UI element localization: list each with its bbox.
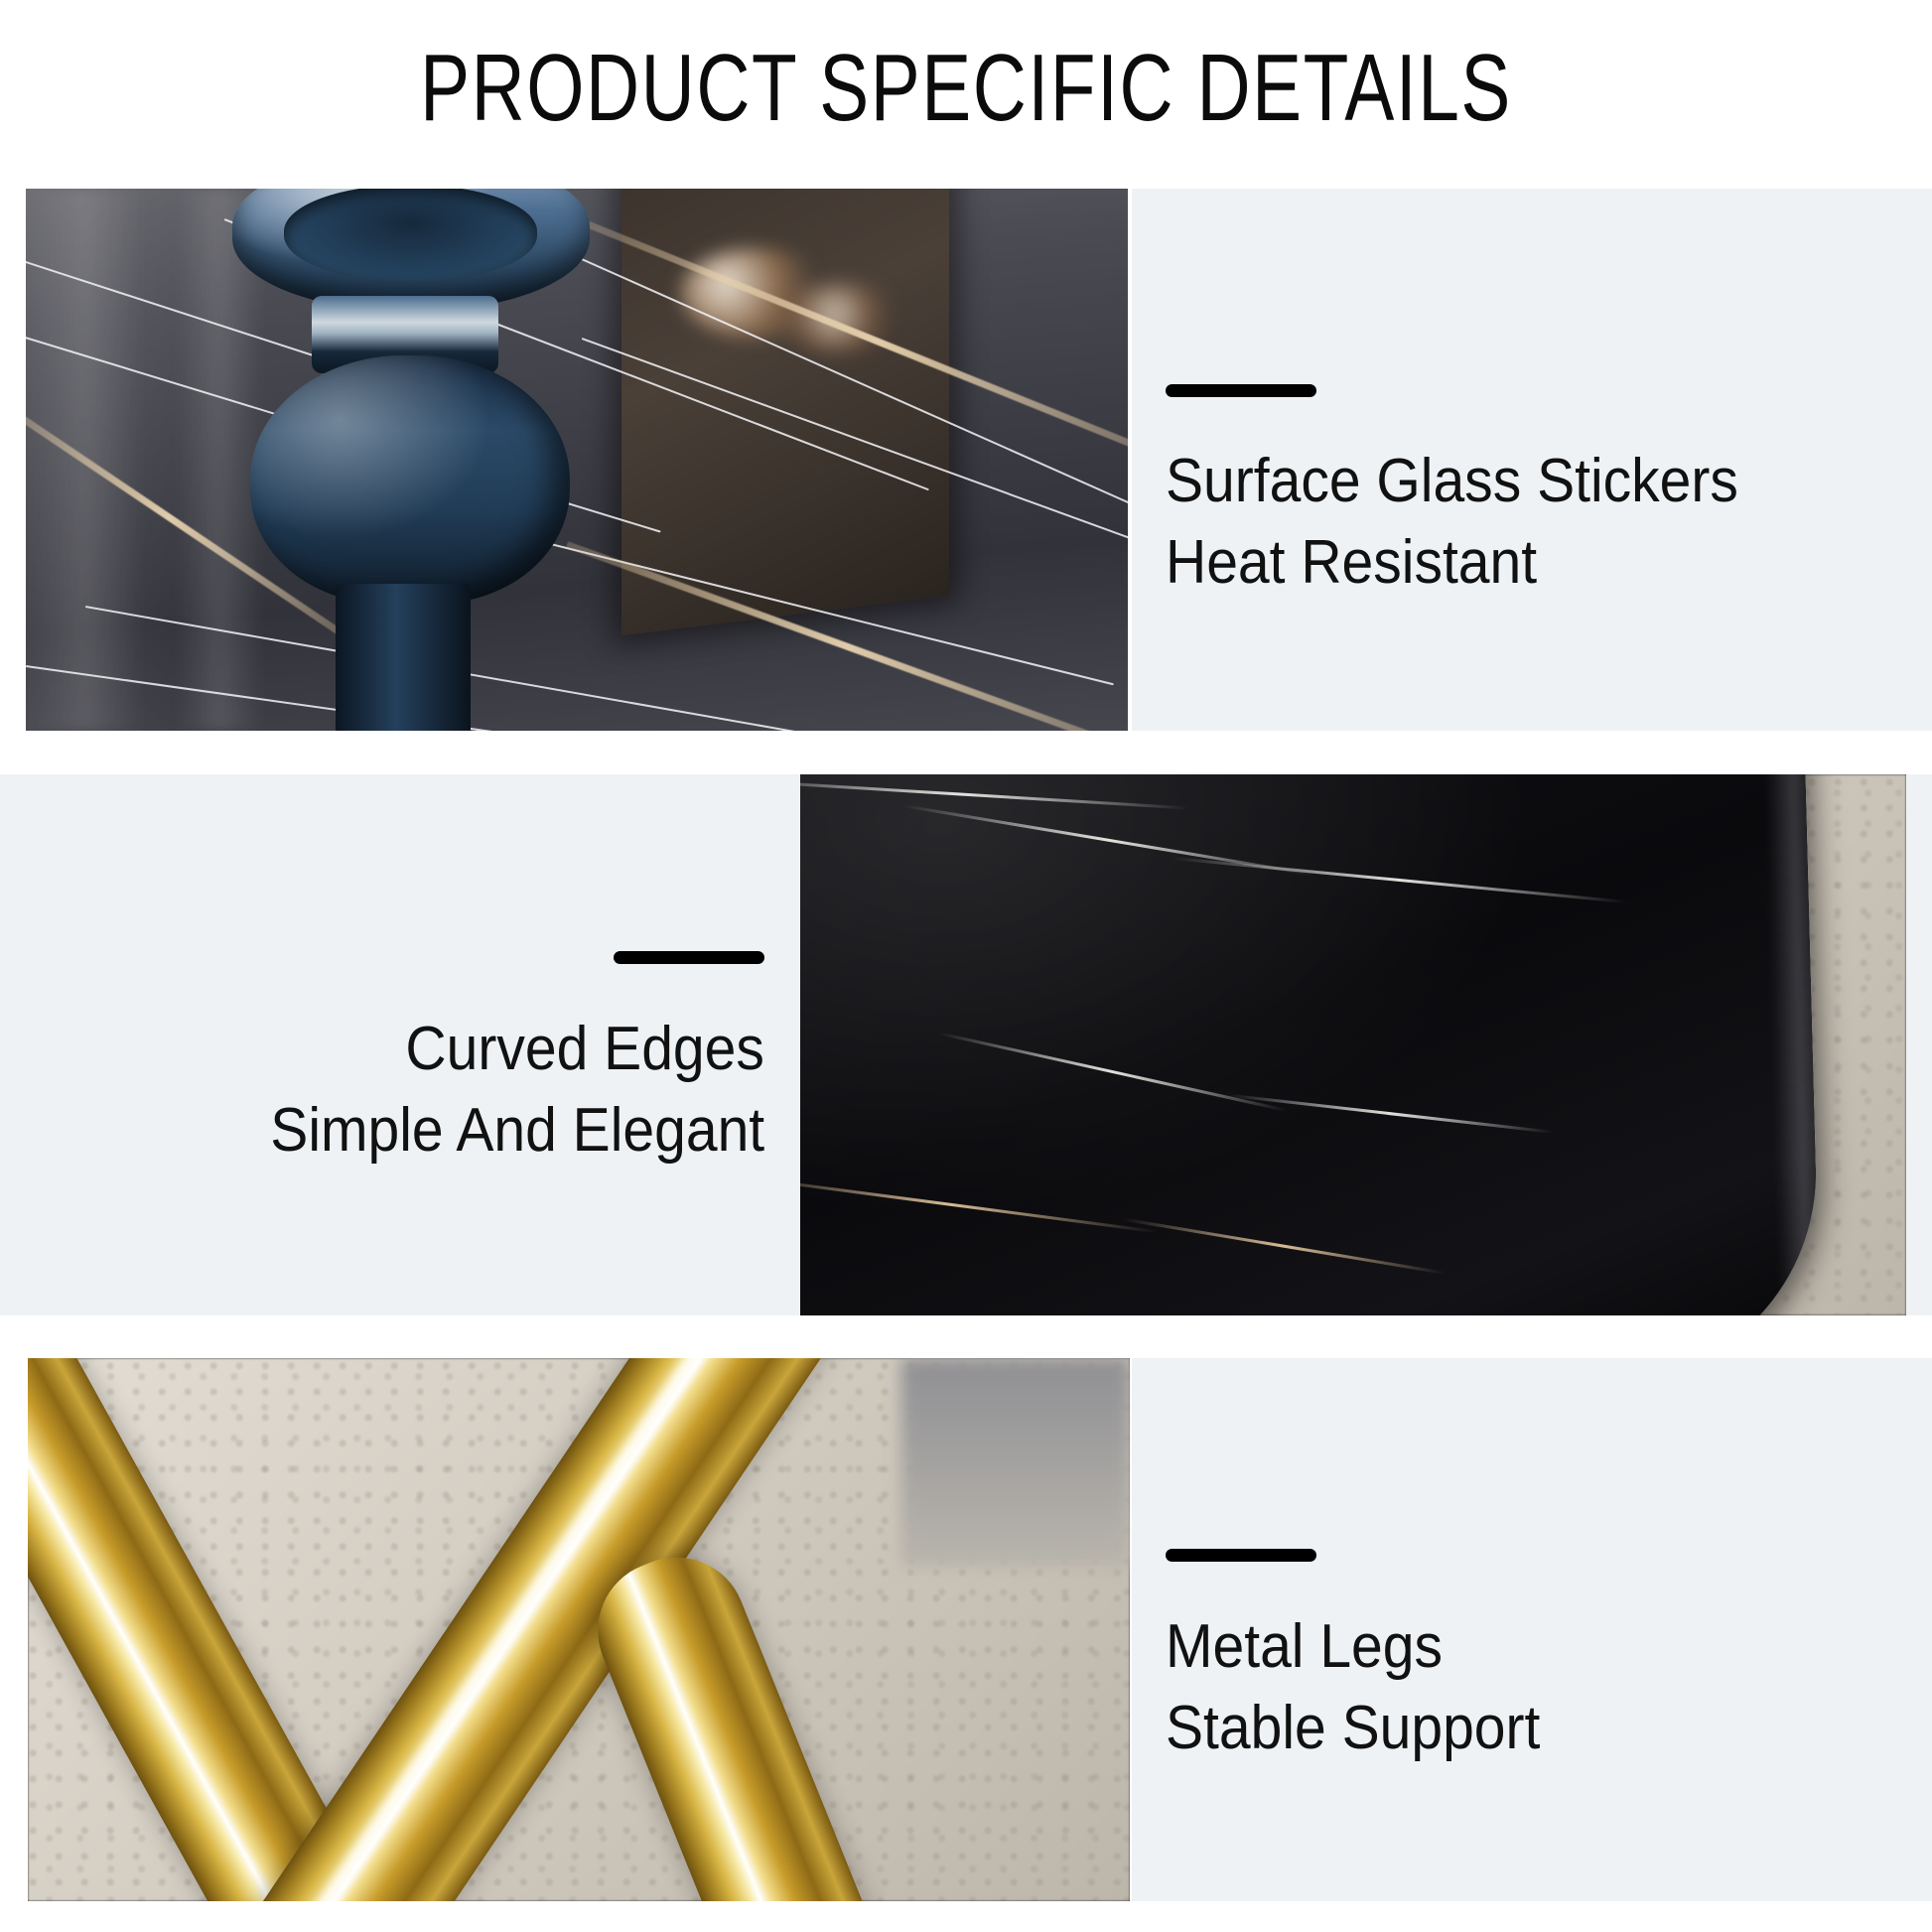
vase-body bbox=[250, 355, 570, 604]
page-title: PRODUCT SPECIFIC DETAILS bbox=[212, 34, 1720, 143]
caption-panel-surface-glass: Surface Glass Stickers Heat Resistant bbox=[1132, 189, 1932, 731]
caption-line-1: Surface Glass Stickers bbox=[1166, 441, 1738, 522]
photo-curved-table-edge bbox=[800, 774, 1906, 1315]
marble-vein bbox=[938, 1032, 1288, 1112]
marble-vein bbox=[1228, 1094, 1554, 1134]
accent-dash-icon bbox=[1166, 384, 1316, 397]
blue-glass-vase bbox=[145, 189, 562, 731]
caption-line-2: Stable Support bbox=[1166, 1688, 1540, 1769]
caption-line-1: Curved Edges bbox=[406, 1009, 764, 1090]
marble-vein bbox=[800, 779, 1189, 810]
marble-vein-gold bbox=[800, 1175, 1157, 1233]
background-shadow bbox=[901, 1358, 1130, 1567]
caption-line-2: Simple And Elegant bbox=[270, 1090, 764, 1172]
marble-vein-gold bbox=[1122, 1217, 1446, 1274]
vase-bowl-interior bbox=[284, 189, 537, 282]
accent-dash-icon bbox=[1166, 1549, 1316, 1562]
vase-base bbox=[336, 584, 471, 731]
photo-surface-glass-marble bbox=[26, 189, 1128, 731]
caption-line-2: Heat Resistant bbox=[1166, 522, 1537, 604]
black-marble-table-corner bbox=[800, 774, 1821, 1315]
marble-vein bbox=[1172, 857, 1626, 903]
photo-gold-metal-legs bbox=[28, 1358, 1130, 1901]
caption-line-1: Metal Legs bbox=[1166, 1606, 1443, 1688]
caption-panel-metal-legs: Metal Legs Stable Support bbox=[1132, 1358, 1932, 1901]
accent-dash-icon bbox=[614, 951, 764, 964]
